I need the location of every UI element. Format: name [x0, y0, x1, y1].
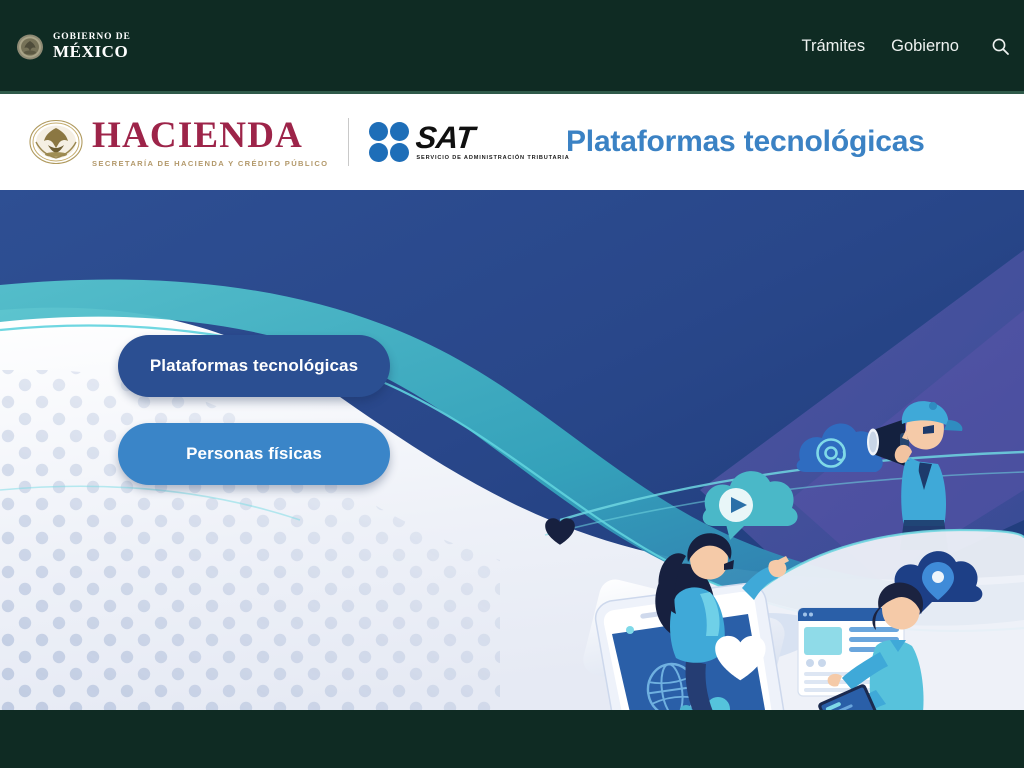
- institution-logo-band: HACIENDA SECRETARÍA DE HACIENDA Y CRÉDIT…: [0, 94, 1024, 190]
- gobierno-line1: GOBIERNO DE: [53, 33, 131, 43]
- sat-name: SAT: [415, 122, 476, 153]
- page-title: Plataformas tecnológicas: [566, 94, 925, 190]
- plataformas-tecnologicas-button[interactable]: Plataformas tecnológicas: [118, 335, 390, 397]
- mexican-eagle-seal-icon: [16, 33, 44, 61]
- sat-logo[interactable]: SAT SERVICIO DE ADMINISTRACIÓN TRIBUTARI…: [369, 122, 569, 162]
- hacienda-logo[interactable]: HACIENDA SECRETARÍA DE HACIENDA Y CRÉDIT…: [28, 117, 570, 168]
- sat-dot: [369, 143, 388, 162]
- gobierno-brand[interactable]: GOBIERNO DE MÉXICO: [16, 33, 131, 61]
- page-root: GOBIERNO DE MÉXICO Trámites Gobierno: [0, 0, 1024, 768]
- hacienda-text: HACIENDA SECRETARÍA DE HACIENDA Y CRÉDIT…: [92, 117, 328, 168]
- search-icon[interactable]: [991, 37, 1010, 56]
- gobierno-line2: MÉXICO: [53, 43, 131, 60]
- sat-four-dots-icon: [369, 122, 409, 162]
- hacienda-title: HACIENDA: [92, 117, 328, 154]
- hacienda-subtitle: SECRETARÍA DE HACIENDA Y CRÉDITO PÚBLICO: [92, 159, 328, 168]
- footer-bar: [0, 710, 1024, 768]
- hero-button-group: Plataformas tecnológicas Personas física…: [118, 335, 390, 485]
- nav-link-gobierno[interactable]: Gobierno: [891, 37, 959, 56]
- logo-divider: [348, 118, 349, 166]
- personas-fisicas-button[interactable]: Personas físicas: [118, 423, 390, 485]
- sat-dot: [390, 122, 409, 141]
- sat-tagline: SERVICIO DE ADMINISTRACIÓN TRIBUTARIA: [416, 156, 569, 162]
- gobierno-nav: Trámites Gobierno: [802, 37, 1010, 56]
- gobierno-top-bar: GOBIERNO DE MÉXICO Trámites Gobierno: [0, 0, 1024, 93]
- nav-link-tramites[interactable]: Trámites: [802, 37, 866, 56]
- sat-wordmark: SAT SERVICIO DE ADMINISTRACIÓN TRIBUTARI…: [416, 122, 569, 162]
- hero-banner: Plataformas tecnológicas Personas física…: [0, 190, 1024, 710]
- gobierno-wordmark: GOBIERNO DE MÉXICO: [53, 33, 131, 61]
- sat-dot: [390, 143, 409, 162]
- sat-dot: [369, 122, 388, 141]
- mexican-eagle-seal-icon: [28, 119, 84, 165]
